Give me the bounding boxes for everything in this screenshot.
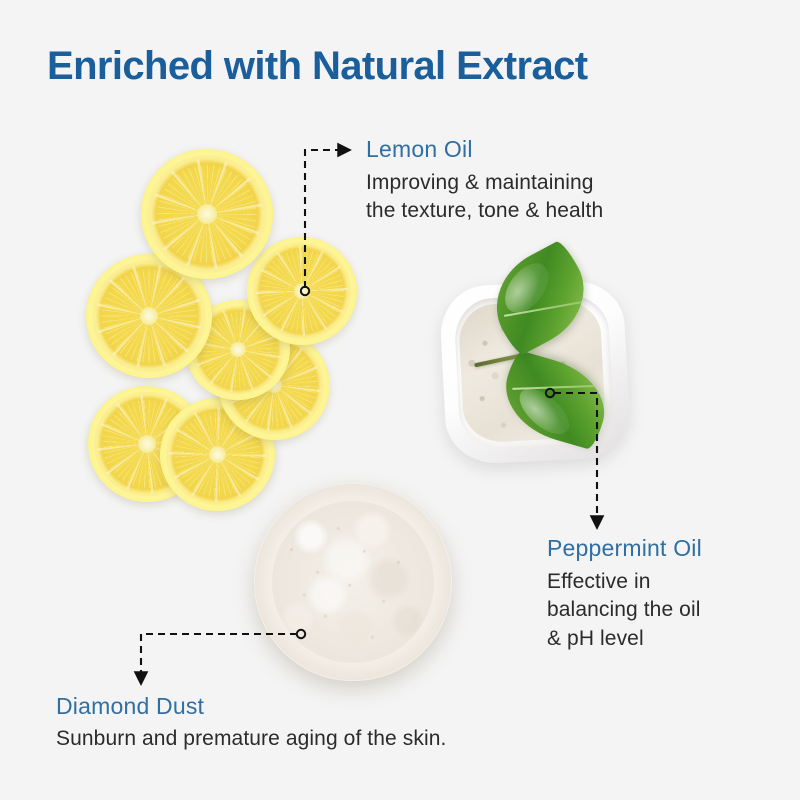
callout-peppermint-oil: Peppermint Oil Effective in balancing th… xyxy=(547,535,702,653)
diamond-dust-bowl xyxy=(254,483,452,681)
description-line: & pH level xyxy=(547,625,702,653)
callout-label-peppermint-oil: Peppermint Oil xyxy=(547,535,702,562)
description-line: Effective in xyxy=(547,568,702,596)
callout-lemon-oil: Lemon Oil Improving & maintaining the te… xyxy=(366,136,603,226)
description-line: balancing the oil xyxy=(547,596,702,624)
description-line: Improving & maintaining xyxy=(366,169,603,197)
ingredient-infographic: Enriched with Natural Extract Lemon Oil … xyxy=(0,0,800,800)
callout-label-diamond-dust: Diamond Dust xyxy=(56,693,446,720)
lemon-slices-group xyxy=(0,0,800,800)
callout-label-lemon-oil: Lemon Oil xyxy=(366,136,603,163)
callout-description-diamond-dust: Sunburn and premature aging of the skin. xyxy=(56,725,446,753)
callout-diamond-dust: Diamond Dust Sunburn and premature aging… xyxy=(56,693,446,753)
bowl-rim xyxy=(254,483,452,681)
callout-description-lemon-oil: Improving & maintaining the texture, ton… xyxy=(366,169,603,226)
callout-description-peppermint-oil: Effective in balancing the oil & pH leve… xyxy=(547,568,702,653)
description-line: Sunburn and premature aging of the skin. xyxy=(56,725,446,753)
page-title: Enriched with Natural Extract xyxy=(47,44,588,89)
description-line: the texture, tone & health xyxy=(366,197,603,225)
